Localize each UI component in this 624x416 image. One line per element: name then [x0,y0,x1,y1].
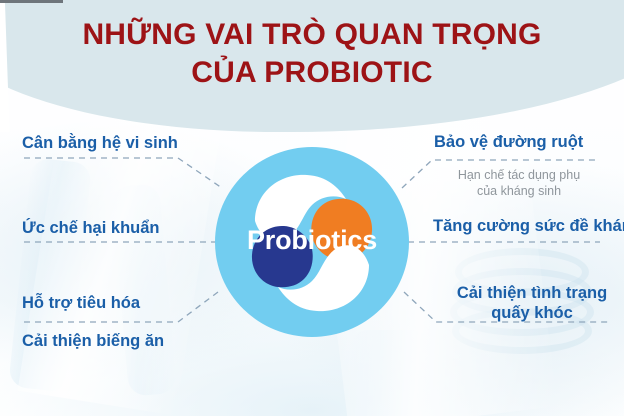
benefit-left-4: Cải thiện biếng ăn [22,331,164,352]
benefit-left-3: Hỗ trợ tiêu hóa [22,293,140,314]
benefit-right-1-subtext-line2: của kháng sinh [424,183,614,199]
benefit-right-1-subtext: Hạn chế tác dụng phụ của kháng sinh [424,167,614,199]
benefit-right-1: Bảo vệ đường ruột [434,132,583,153]
title-line-2: CỦA PROBIOTIC [0,54,624,92]
benefit-left-2: Ức chế hại khuẩn [22,218,159,239]
benefit-left-1: Cân bằng hệ vi sinh [22,133,178,154]
logo-wordmark: Probiotics [215,225,409,256]
probiotics-logo: Probiotics [215,147,409,337]
title-line-1: NHỮNG VAI TRÒ QUAN TRỌNG [0,16,624,54]
benefit-right-3-line2: quấy khóc [447,303,617,324]
page-title: NHỮNG VAI TRÒ QUAN TRỌNG CỦA PROBIOTIC [0,16,624,92]
benefit-right-3-line1: Cải thiện tình trạng [447,283,617,304]
benefit-right-1-subtext-line1: Hạn chế tác dụng phụ [424,167,614,183]
benefit-right-2: Tăng cường sức đề kháng [433,216,624,237]
top-grey-bar [0,0,63,3]
probiotics-infographic: NHỮNG VAI TRÒ QUAN TRỌNG CỦA PROBIOTIC [0,0,624,416]
